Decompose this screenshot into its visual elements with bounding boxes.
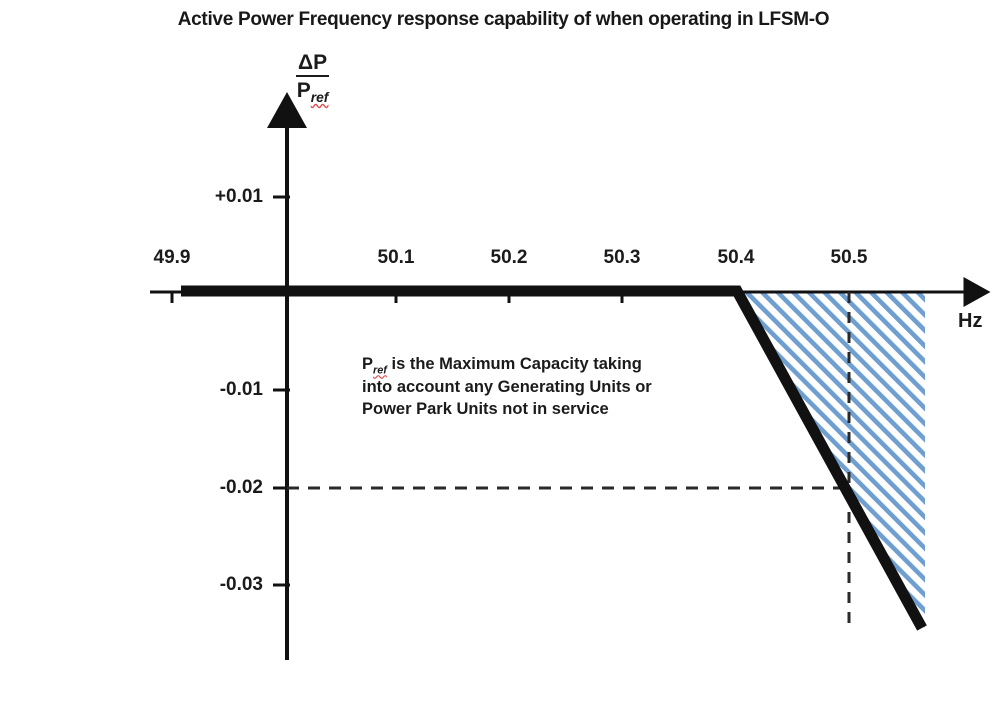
- x-tick-label-50-2: 50.2: [491, 247, 528, 269]
- y-tick-label-minus-0-03: -0.03: [150, 574, 263, 596]
- x-tick-label-50-5: 50.5: [831, 247, 868, 269]
- x-tick-label-50-1: 50.1: [378, 247, 415, 269]
- annotation-pref-base: P: [362, 355, 373, 373]
- x-tick-label-50-3: 50.3: [604, 247, 641, 269]
- annotation-line-1-rest: is the Maximum Capacity taking: [387, 355, 642, 373]
- annotation-line-1: Pref is the Maximum Capacity taking: [362, 354, 752, 377]
- x-tick-label-50-4: 50.4: [718, 247, 755, 269]
- x-axis-unit-label: Hz: [958, 310, 982, 333]
- diagram-canvas: Active Power Frequency response capabili…: [0, 0, 1007, 702]
- y-axis-title-denominator-subscript: ref: [311, 89, 329, 105]
- y-axis-title-denominator: Pref: [296, 77, 329, 105]
- y-axis-title-denominator-base: P: [297, 79, 311, 102]
- y-axis-title-numerator: ΔP: [296, 52, 329, 77]
- y-tick-label-minus-0-02: -0.02: [150, 477, 263, 499]
- annotation-line-3: Power Park Units not in service: [362, 399, 752, 420]
- y-tick-label-plus-0-01: +0.01: [150, 186, 263, 208]
- y-axis-title: ΔP Pref: [296, 52, 329, 105]
- chart-plot-area: [0, 0, 1007, 702]
- y-tick-label-minus-0-01: -0.01: [150, 379, 263, 401]
- x-tick-label-49-9: 49.9: [154, 247, 191, 269]
- annotation-line-2: into account any Generating Units or: [362, 377, 752, 398]
- annotation-pref-subscript: ref: [373, 364, 387, 376]
- p-ref-definition-annotation: Pref is the Maximum Capacity taking into…: [362, 354, 752, 420]
